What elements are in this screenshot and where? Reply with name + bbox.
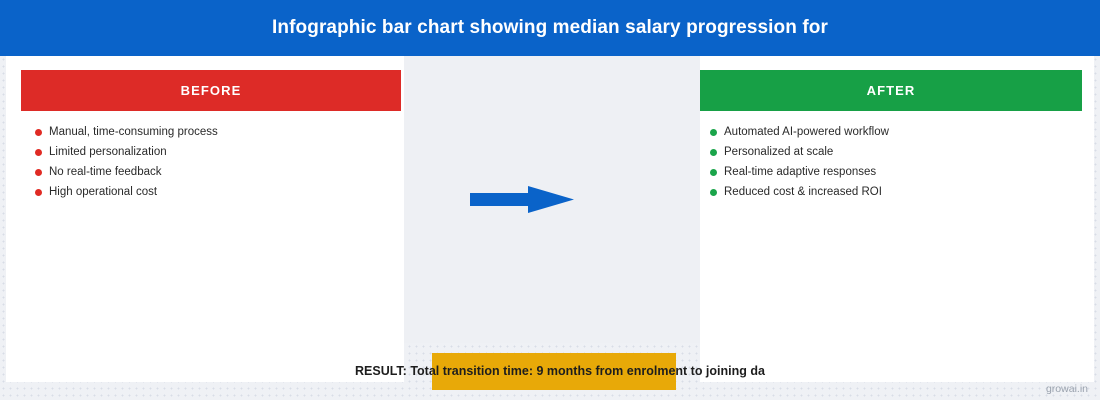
bullet-dot-icon <box>710 169 717 176</box>
bullet-dot-icon <box>35 149 42 156</box>
list-item: High operational cost <box>35 182 218 202</box>
bullet-dot-icon <box>710 129 717 136</box>
list-item: Personalized at scale <box>710 142 889 162</box>
list-item: Reduced cost & increased ROI <box>710 182 889 202</box>
list-item-label: High operational cost <box>49 182 157 202</box>
list-item: Automated AI-powered workflow <box>710 122 889 142</box>
list-item: Manual, time-consuming process <box>35 122 218 142</box>
before-panel-header: BEFORE <box>21 70 401 111</box>
before-panel-list: Manual, time-consuming process Limited p… <box>35 122 218 202</box>
right-arrow-icon <box>470 186 574 213</box>
list-item: No real-time feedback <box>35 162 218 182</box>
page-title: Infographic bar chart showing median sal… <box>272 17 828 39</box>
before-panel-header-label: BEFORE <box>181 83 242 98</box>
bullet-dot-icon <box>710 149 717 156</box>
list-item-label: No real-time feedback <box>49 162 162 182</box>
bullet-dot-icon <box>35 189 42 196</box>
list-item: Real-time adaptive responses <box>710 162 889 182</box>
bullet-dot-icon <box>35 169 42 176</box>
bullet-dot-icon <box>710 189 717 196</box>
watermark: growai.in <box>1046 383 1088 395</box>
list-item-label: Manual, time-consuming process <box>49 122 218 142</box>
list-item-label: Reduced cost & increased ROI <box>724 182 882 202</box>
list-item-label: Personalized at scale <box>724 142 833 162</box>
after-panel-header: AFTER <box>700 70 1082 111</box>
after-panel: AFTER Automated AI-powered workflow Pers… <box>700 56 1094 382</box>
after-panel-list: Automated AI-powered workflow Personaliz… <box>710 122 889 202</box>
list-item-label: Real-time adaptive responses <box>724 162 876 182</box>
bullet-dot-icon <box>35 129 42 136</box>
before-panel: BEFORE Manual, time-consuming process Li… <box>6 56 404 382</box>
after-panel-header-label: AFTER <box>867 83 916 98</box>
list-item-label: Automated AI-powered workflow <box>724 122 889 142</box>
header-bar: Infographic bar chart showing median sal… <box>0 0 1100 56</box>
list-item: Limited personalization <box>35 142 218 162</box>
result-text: RESULT: Total transition time: 9 months … <box>355 363 765 380</box>
list-item-label: Limited personalization <box>49 142 167 162</box>
middle-column <box>404 56 700 343</box>
infographic-page: Infographic bar chart showing median sal… <box>0 0 1100 400</box>
